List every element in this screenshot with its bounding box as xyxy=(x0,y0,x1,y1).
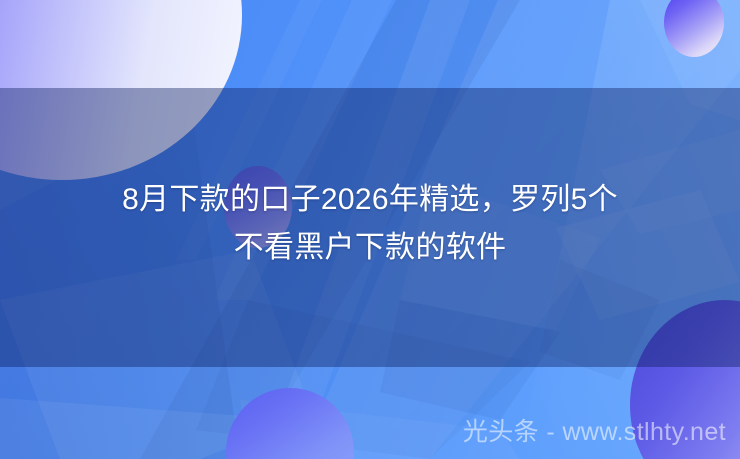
promo-banner: 8月下款的口子2026年精选，罗列5个 不看黑户下款的软件 光头条 - www.… xyxy=(0,0,740,459)
banner-headline: 8月下款的口子2026年精选，罗列5个 不看黑户下款的软件 xyxy=(0,176,740,272)
site-watermark: 光头条 - www.stlhty.net xyxy=(463,417,726,447)
